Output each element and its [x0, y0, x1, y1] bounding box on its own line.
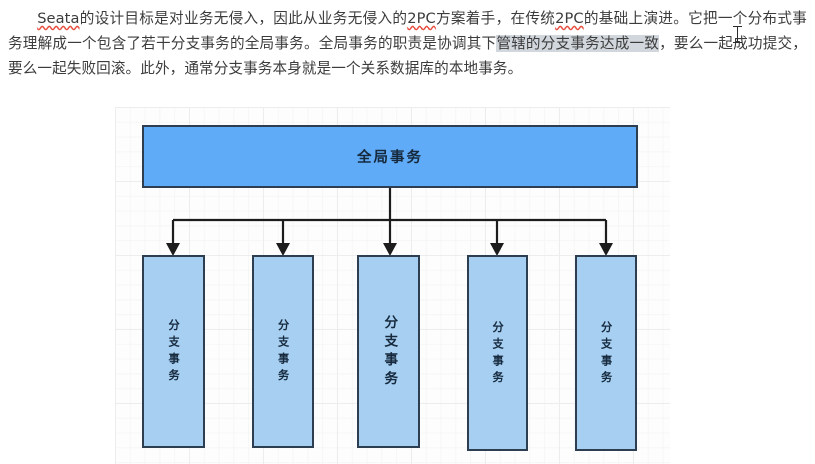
node-branch-transaction-3-label: 分支事务: [382, 315, 396, 389]
article-text-block[interactable]: Seata的设计目标是对业务无侵入，因此从业务无侵入的2PC方案着手，在传统2P…: [0, 0, 815, 81]
node-global-transaction-label: 全局事务: [357, 146, 423, 167]
node-branch-transaction-2-label: 分支事务: [277, 319, 288, 386]
transaction-diagram: 全局事务 分支事务 分支事务 分支事务 分支事务 分支事务: [0, 100, 815, 464]
selected-text-highlight[interactable]: 管辖的分支事务达成一致: [496, 35, 659, 52]
node-branch-transaction-1[interactable]: 分支事务: [142, 255, 205, 448]
term-seata: Seata: [37, 10, 79, 27]
article-text-run-2: 方案着手，在传统: [436, 10, 555, 27]
node-branch-transaction-5-label: 分支事务: [600, 321, 611, 388]
node-branch-transaction-3[interactable]: 分支事务: [357, 255, 420, 448]
node-branch-transaction-5[interactable]: 分支事务: [575, 255, 637, 451]
node-branch-transaction-2[interactable]: 分支事务: [252, 255, 314, 448]
node-branch-transaction-1-label: 分支事务: [168, 319, 179, 386]
article-paragraph[interactable]: Seata的设计目标是对业务无侵入，因此从业务无侵入的2PC方案着手，在传统2P…: [8, 6, 807, 81]
term-2pc-first: 2PC: [407, 10, 436, 27]
term-2pc-second: 2PC: [555, 10, 584, 27]
article-text-run-1: 的设计目标是对业务无侵入，因此从业务无侵入的: [80, 10, 408, 27]
node-branch-transaction-4-label: 分支事务: [492, 321, 503, 388]
node-branch-transaction-4[interactable]: 分支事务: [467, 255, 528, 451]
node-global-transaction[interactable]: 全局事务: [142, 125, 638, 188]
